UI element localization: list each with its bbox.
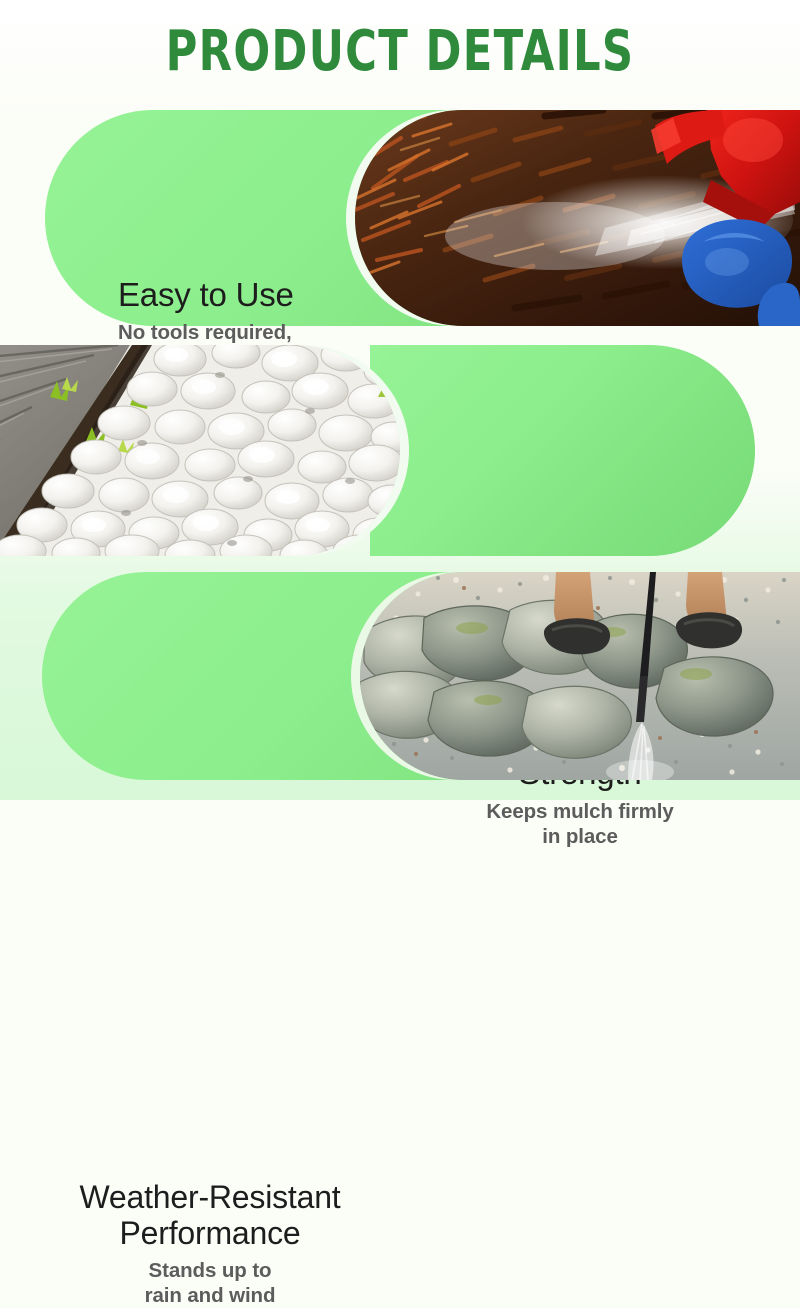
feature-text-block-3: Weather-Resistant Performance Stands up … (60, 1179, 360, 1308)
feature-card-weather-resistant-performance: Weather-Resistant Performance Stands up … (0, 572, 800, 780)
feature-subtext: Keeps mulch firmly in place (415, 799, 745, 849)
feature-image-sprayer-applying-mulch-glue-on-bark-mulch (355, 110, 800, 326)
feature-card-high-adhesive-strength: High-Adhesive Strength Keeps mulch firml… (0, 345, 800, 556)
feature-image-person-spraying-sealant-on-stone-rocks (360, 572, 800, 780)
feature-card-easy-to-use: Easy to Use No tools required, quick app… (0, 110, 800, 326)
feature-image-white-decorative-gravel-stones-on-landscape-bed (0, 345, 400, 556)
page-title: PRODUCT DETAILS (56, 19, 744, 84)
feature-card-green-panel (370, 345, 755, 556)
feature-heading: Easy to Use (118, 276, 294, 313)
feature-heading: Weather-Resistant Performance (60, 1179, 360, 1251)
feature-subtext: Stands up to rain and wind (60, 1258, 360, 1308)
